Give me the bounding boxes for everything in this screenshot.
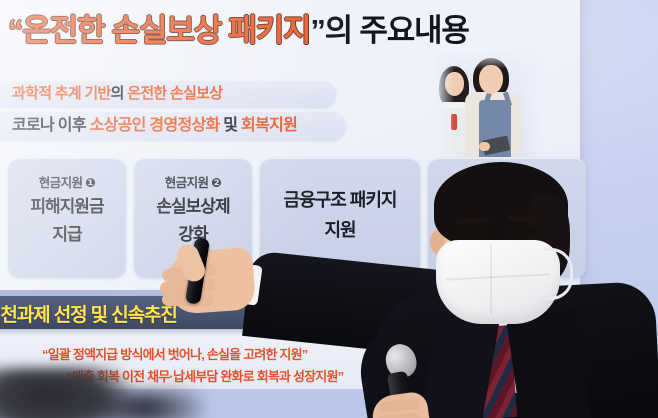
face-mask-crease <box>490 244 492 314</box>
subtitle-1-plain: 의 <box>111 85 128 102</box>
box-2-tag: 현금지원 ❷ <box>134 172 252 191</box>
subtitle-2-plain2: 및 <box>220 117 242 134</box>
subtitle-2-accent: 소상공인 경영정상화 <box>90 117 220 134</box>
title-suffix: 의 주요내용 <box>325 13 469 48</box>
subtitle-1-accent2: 온전한 손실보상 <box>127 85 222 102</box>
subtitle-2-plain: 코로나 이후 <box>12 117 90 134</box>
box-2-line1: 손실보상제 <box>134 194 252 219</box>
speaker-eye-right <box>510 228 538 235</box>
foreground-blur-bottom <box>84 388 204 418</box>
slide-title: “온전한 손실보상 패키지”의 주요내용 <box>8 8 528 54</box>
subtitle-pill-1-text: 과학적 추계 기반의 온전한 손실보상 <box>12 83 222 105</box>
box-1-line2: 지급 <box>8 220 126 245</box>
subtitle-pill-1: 과학적 추계 기반의 온전한 손실보상 <box>0 81 336 107</box>
box-1-tag: 현금지원 ❶ <box>8 172 126 191</box>
photo-edge-fade <box>435 52 543 157</box>
stock-photo-shop-owners <box>435 52 543 157</box>
title-quote-open: “ <box>8 13 22 48</box>
title-quoted-text: 온전한 손실보상 패키지 <box>22 13 310 48</box>
box-1-line1: 피해지원금 <box>8 194 126 219</box>
face-mask-icon <box>436 240 560 324</box>
speaker-person <box>368 168 658 418</box>
strategy-box-1: 현금지원 ❶ 피해지원금 지급 <box>8 158 126 278</box>
title-quote-close: ” <box>310 13 324 48</box>
speaker-eye-left <box>460 230 487 237</box>
subtitle-pill-2: 코로나 이후 소상공인 경영정상화 및 회복지원 <box>0 112 346 140</box>
subtitle-pill-2-text: 코로나 이후 소상공인 경영정상화 및 회복지원 <box>12 114 297 138</box>
subtitle-2-accent2: 회복지원 <box>241 117 297 134</box>
screenshot-stage: “온전한 손실보상 패키지”의 주요내용 과학적 추계 기반의 온전한 손실보상… <box>0 0 658 418</box>
subtitle-1-accent: 과학적 추계 기반 <box>12 85 111 102</box>
